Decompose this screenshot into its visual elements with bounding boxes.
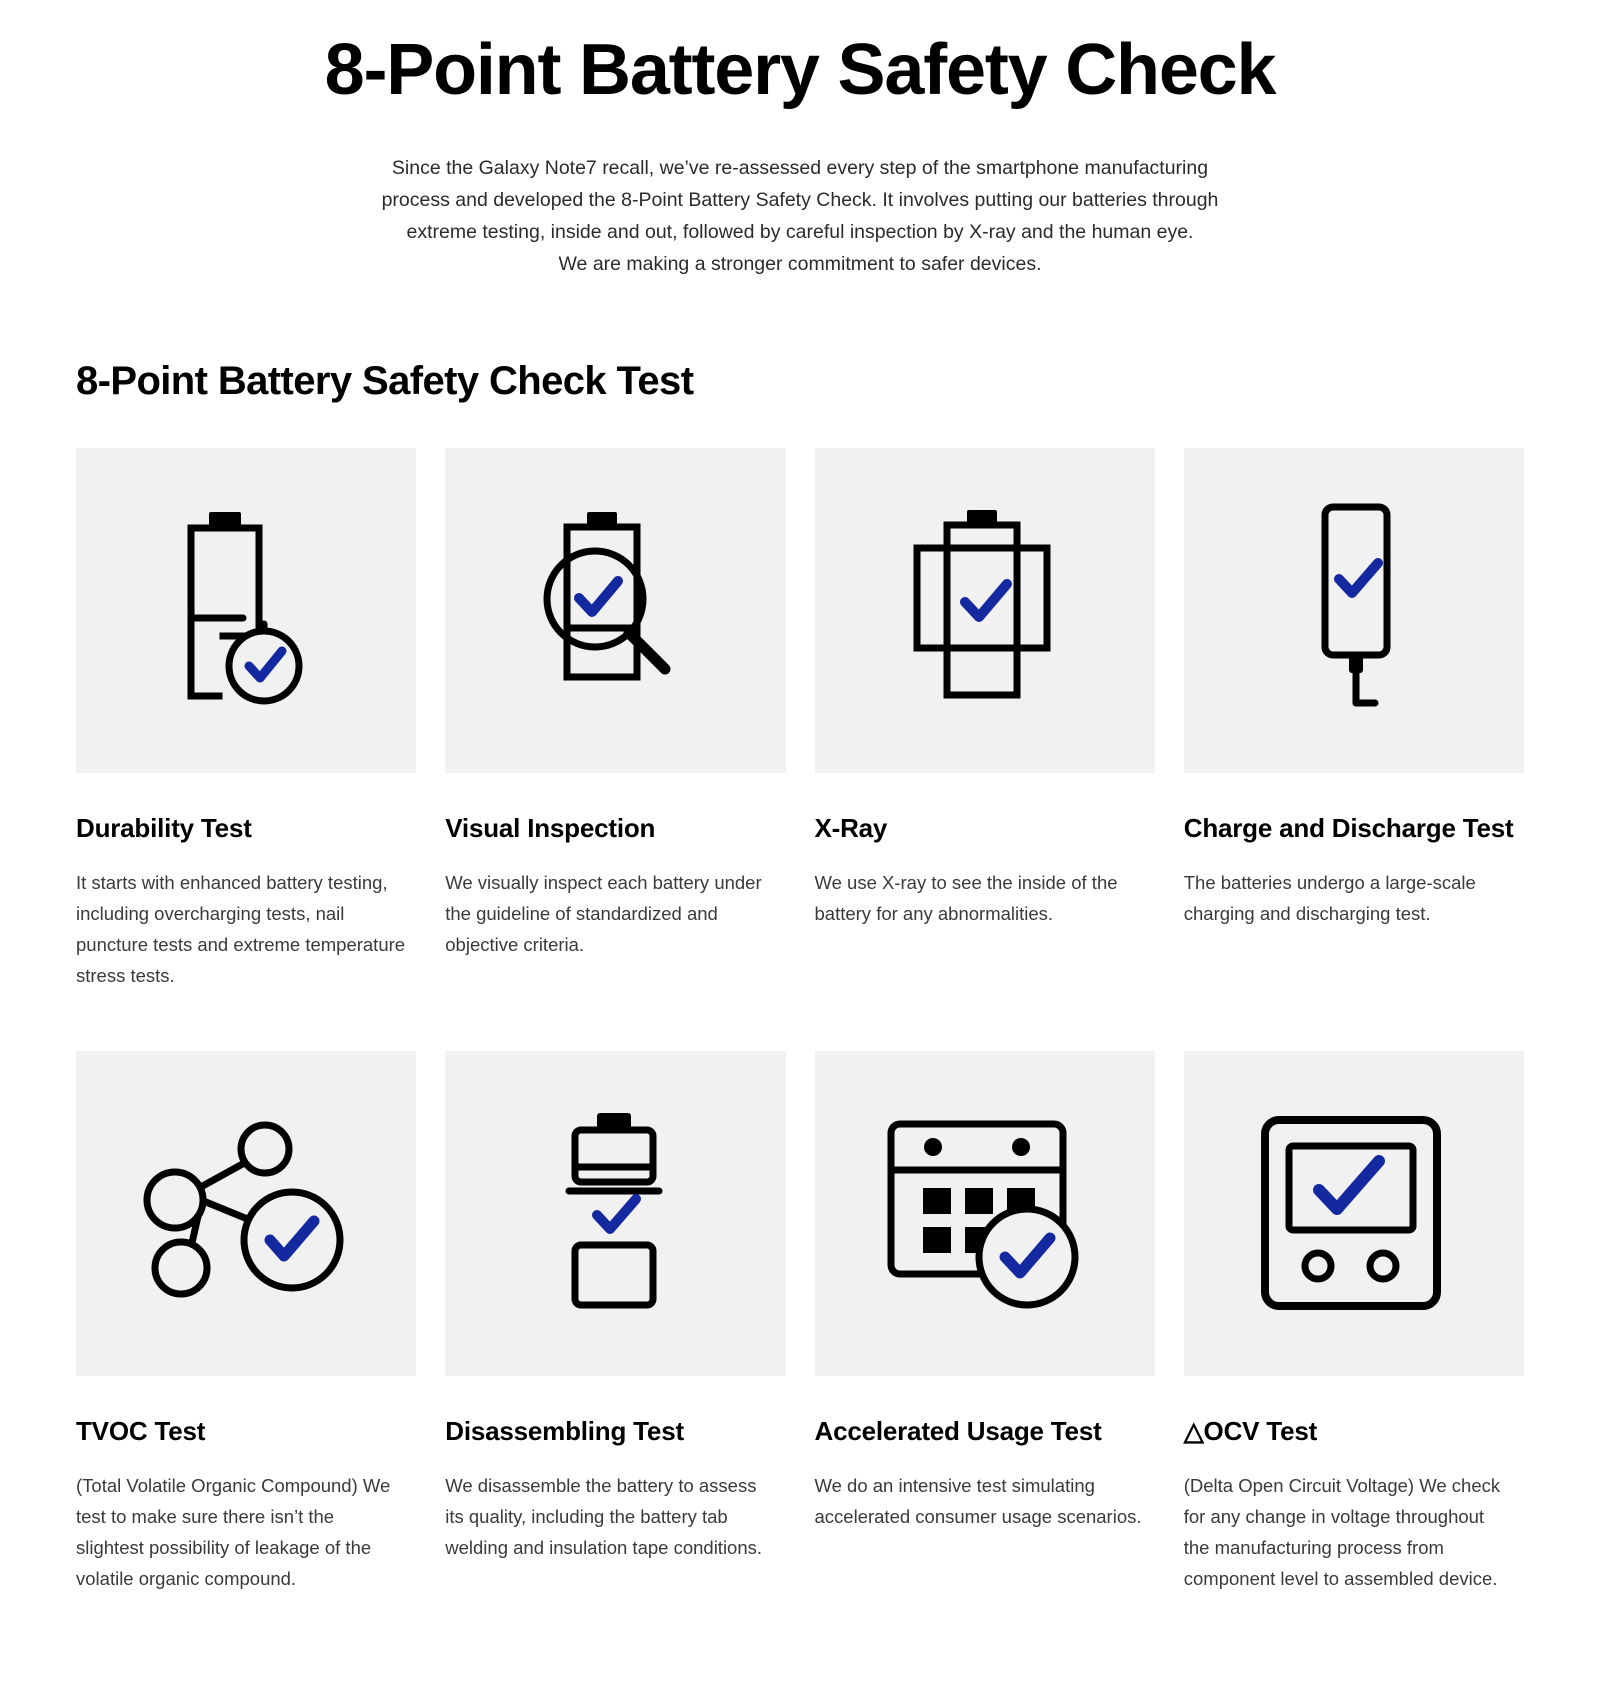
voltmeter-check-icon (1259, 1114, 1449, 1314)
battery-check-icon (171, 506, 321, 716)
calendar-check-icon (885, 1114, 1085, 1314)
safety-check-test-section: 8-Point Battery Safety Check Test (0, 358, 1600, 1610)
card-title: TVOC Test (76, 1414, 416, 1448)
hero-section: 8-Point Battery Safety Check Since the G… (0, 0, 1600, 280)
hero-paragraph-line-4: We are making a stronger commitment to s… (380, 248, 1220, 280)
hero-paragraph: Since the Galaxy Note7 recall, we’ve re-… (380, 152, 1220, 280)
hero-paragraph-line-3: extreme testing, inside and out, followe… (380, 216, 1220, 248)
card-grid-row-2: TVOC Test (Total Volatile Organic Compou… (76, 1051, 1524, 1610)
card-description: (Total Volatile Organic Compound) We tes… (76, 1470, 406, 1594)
page-title: 8-Point Battery Safety Check (0, 34, 1600, 106)
card-description: We visually inspect each battery under t… (445, 867, 775, 960)
molecule-check-icon (139, 1116, 354, 1311)
card-x-ray: X-Ray We use X-ray to see the inside of … (815, 448, 1155, 1007)
card-media (445, 1051, 785, 1376)
card-title: Durability Test (76, 811, 416, 845)
card-title: Disassembling Test (445, 1414, 785, 1448)
card-title: Visual Inspection (445, 811, 785, 845)
card-media (1184, 1051, 1524, 1376)
page-root: 8-Point Battery Safety Check Since the G… (0, 0, 1600, 1610)
card-accelerated-usage-test: Accelerated Usage Test We do an intensiv… (815, 1051, 1155, 1610)
card-description: We do an intensive test simulating accel… (815, 1470, 1145, 1532)
phone-charging-check-icon (1289, 503, 1419, 718)
card-description: We disassemble the battery to assess its… (445, 1470, 775, 1563)
card-description: The batteries undergo a large-scale char… (1184, 867, 1514, 929)
card-media (445, 448, 785, 773)
battery-magnifier-check-icon (525, 506, 705, 716)
card-title: Accelerated Usage Test (815, 1414, 1155, 1448)
battery-split-check-icon (555, 1109, 675, 1319)
card-media (815, 1051, 1155, 1376)
card-grid-row-1: Durability Test It starts with enhanced … (76, 448, 1524, 1007)
card-disassembling-test: Disassembling Test We disassemble the ba… (445, 1051, 785, 1610)
hero-paragraph-line-2: process and developed the 8-Point Batter… (380, 184, 1220, 216)
card-charge-and-discharge-test: Charge and Discharge Test The batteries … (1184, 448, 1524, 1007)
card-ocv-test: △OCV Test (Delta Open Circuit Voltage) W… (1184, 1051, 1524, 1610)
hero-paragraph-line-1: Since the Galaxy Note7 recall, we’ve re-… (380, 152, 1220, 184)
card-tvoc-test: TVOC Test (Total Volatile Organic Compou… (76, 1051, 416, 1610)
card-media (76, 448, 416, 773)
card-description: (Delta Open Circuit Voltage) We check fo… (1184, 1470, 1514, 1594)
battery-xray-check-icon (895, 506, 1075, 716)
card-title: X-Ray (815, 811, 1155, 845)
card-title: △OCV Test (1184, 1414, 1524, 1448)
card-title: Charge and Discharge Test (1184, 811, 1524, 845)
card-visual-inspection: Visual Inspection We visually inspect ea… (445, 448, 785, 1007)
section-title: 8-Point Battery Safety Check Test (76, 358, 1524, 404)
card-durability-test: Durability Test It starts with enhanced … (76, 448, 416, 1007)
card-media (76, 1051, 416, 1376)
card-description: It starts with enhanced battery testing,… (76, 867, 406, 991)
card-media (1184, 448, 1524, 773)
card-description: We use X-ray to see the inside of the ba… (815, 867, 1145, 929)
card-media (815, 448, 1155, 773)
